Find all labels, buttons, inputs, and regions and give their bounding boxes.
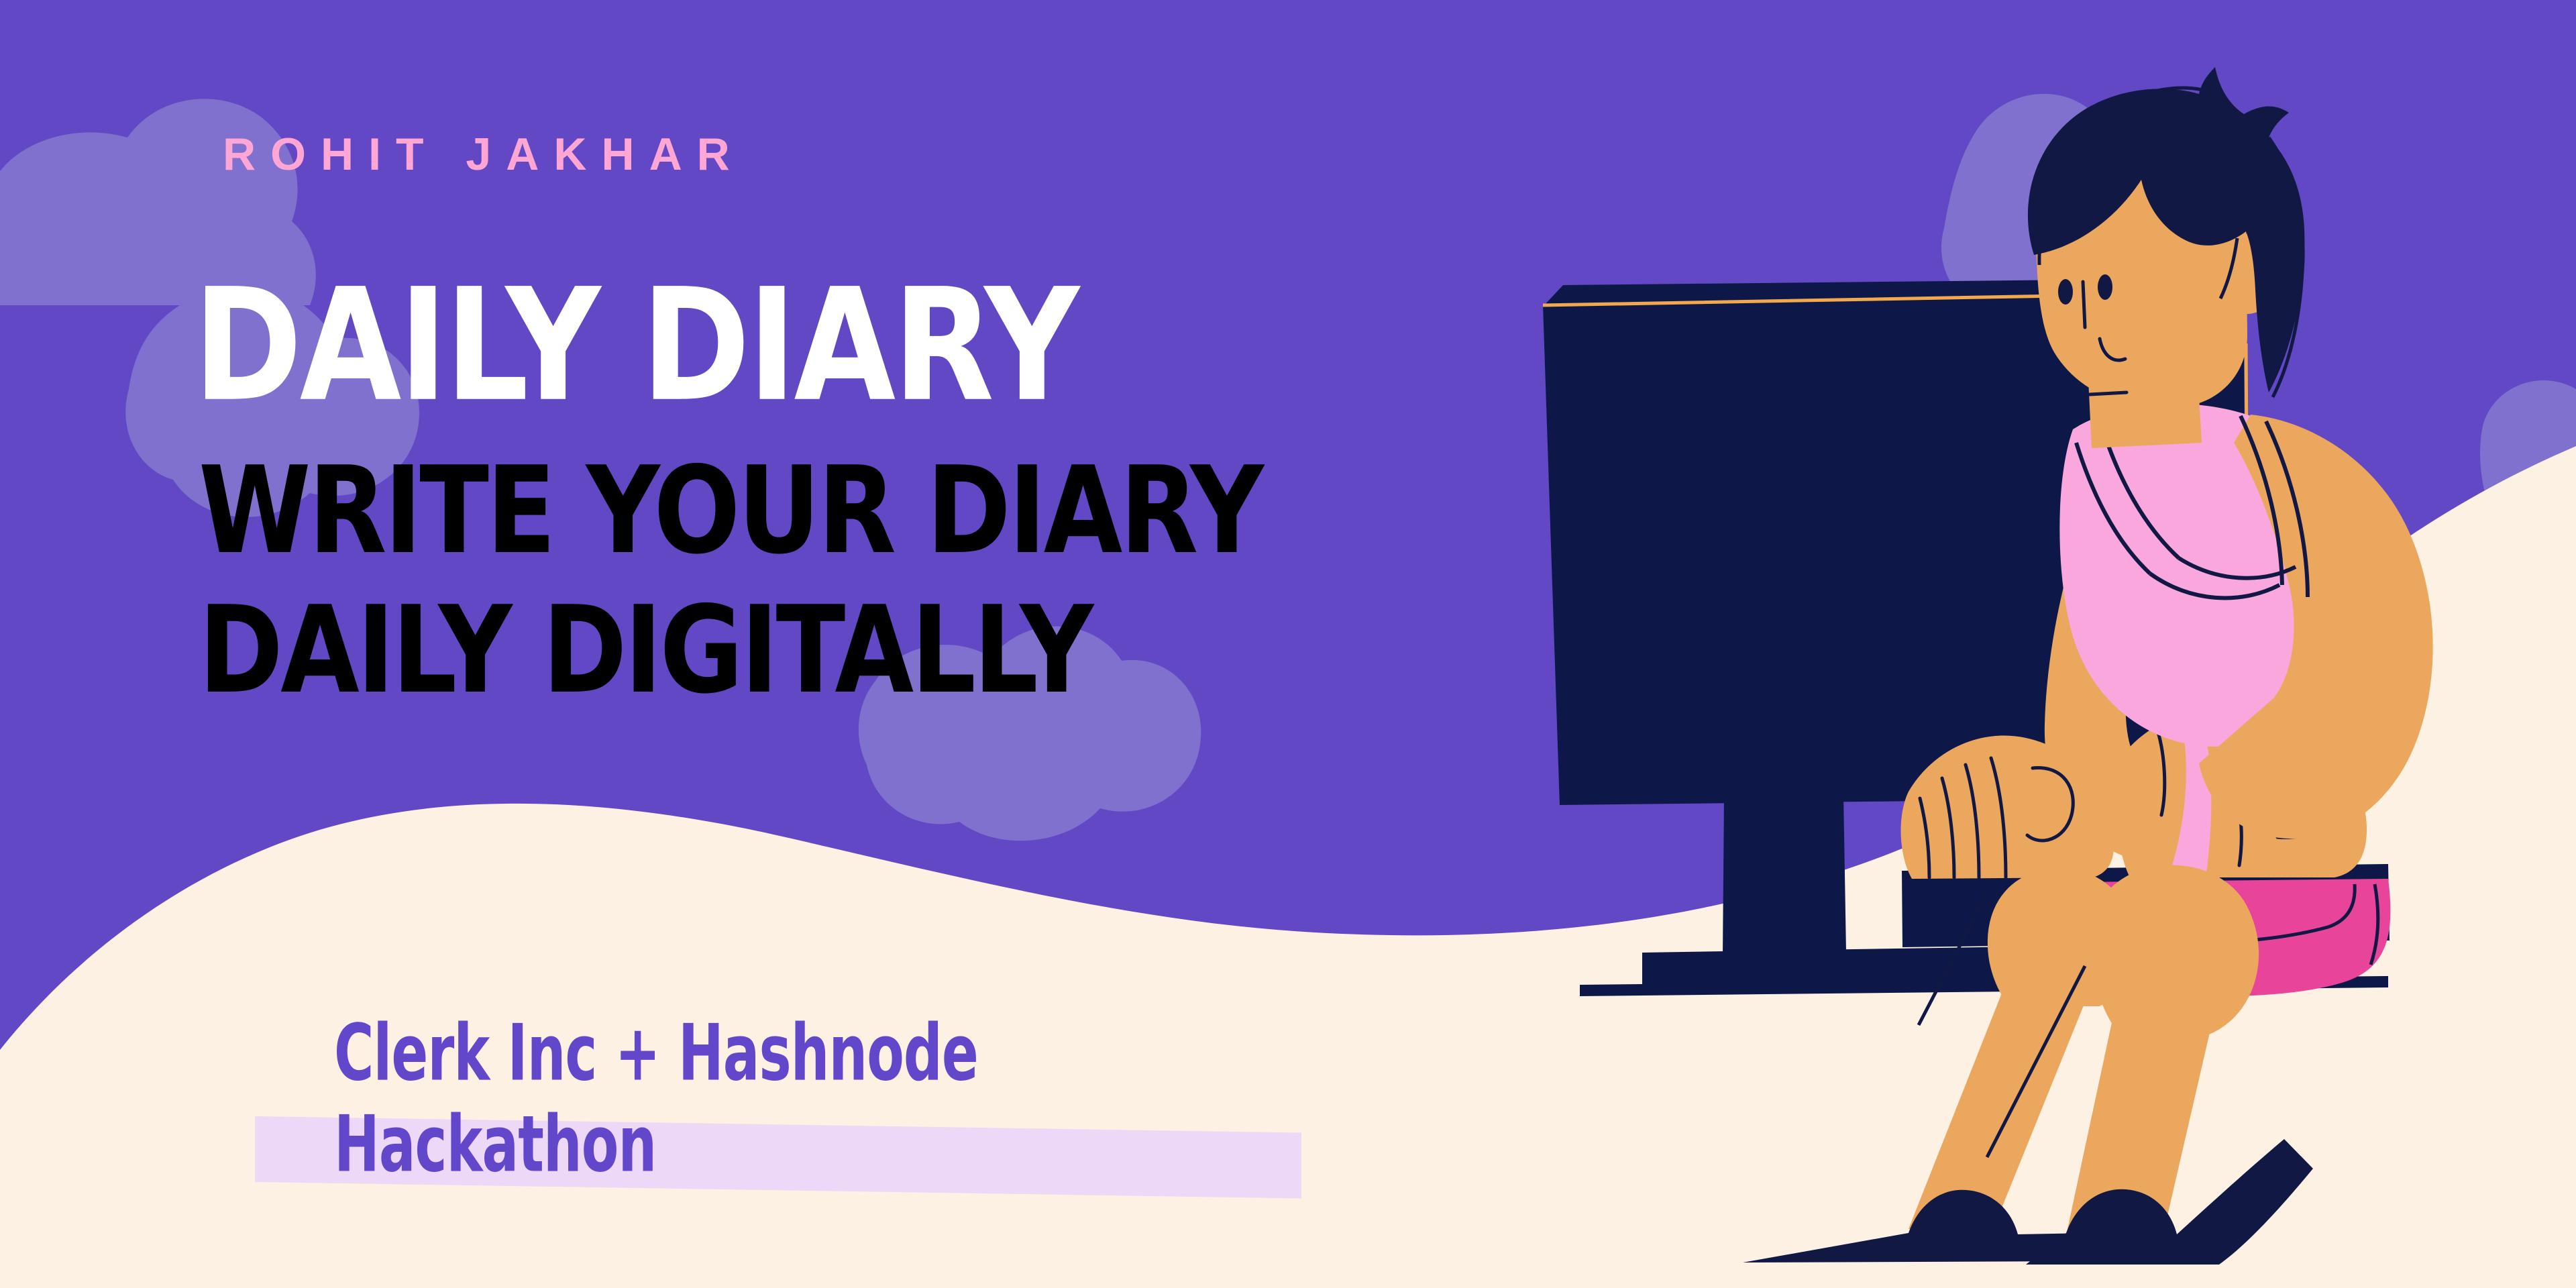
page-title: DAILY DIARY [193,268,1077,423]
footer-line-1: Clerk Inc + Hashnode [334,1014,978,1092]
subheadline-line-2: DAILY DIGITALLY [199,590,1091,710]
promo-banner: ROHIT JAKHAR DAILY DIARY WRITE YOUR DIAR… [0,0,2576,1288]
text-layer: ROHIT JAKHAR DAILY DIARY WRITE YOUR DIAR… [0,0,2576,1288]
footer-line-2: Hackathon [334,1106,656,1183]
subheadline-line-1: WRITE YOUR DIARY [199,451,1261,571]
author-name: ROHIT JAKHAR [223,131,745,177]
